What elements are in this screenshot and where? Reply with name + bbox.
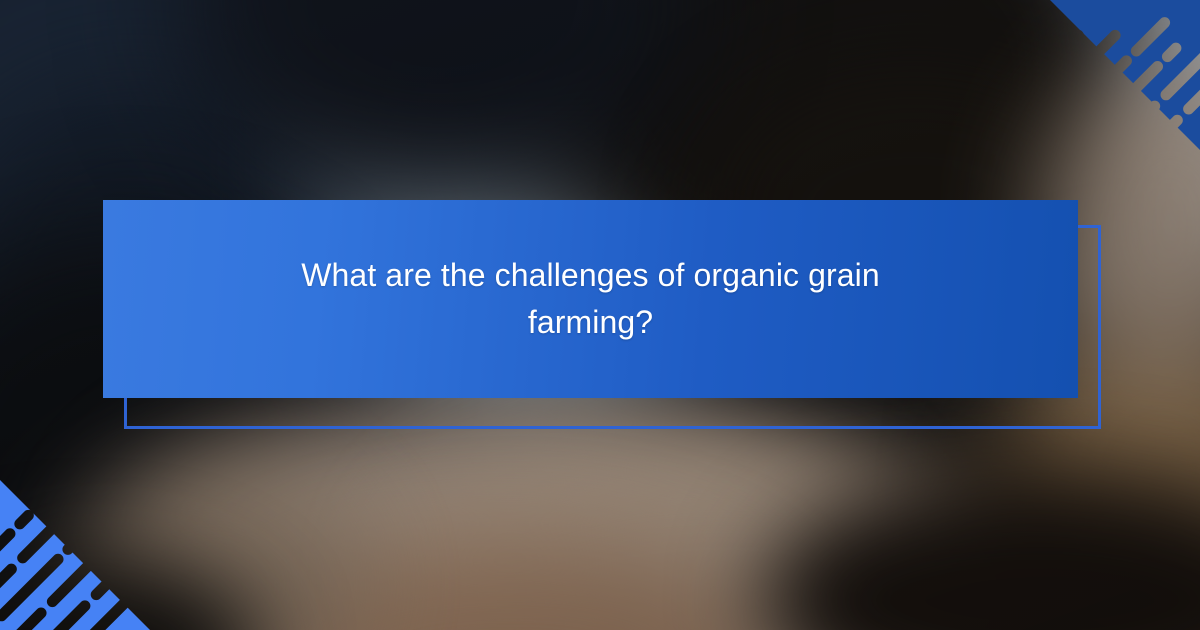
diagonal-dashes-icon	[1050, 0, 1200, 150]
corner-decoration-bottom-left	[0, 480, 150, 630]
title-banner: What are the challenges of organic grain…	[103, 200, 1078, 398]
page-title: What are the challenges of organic grain…	[241, 252, 941, 346]
corner-decoration-top-right	[1050, 0, 1200, 150]
diagonal-dashes-icon	[0, 480, 150, 630]
